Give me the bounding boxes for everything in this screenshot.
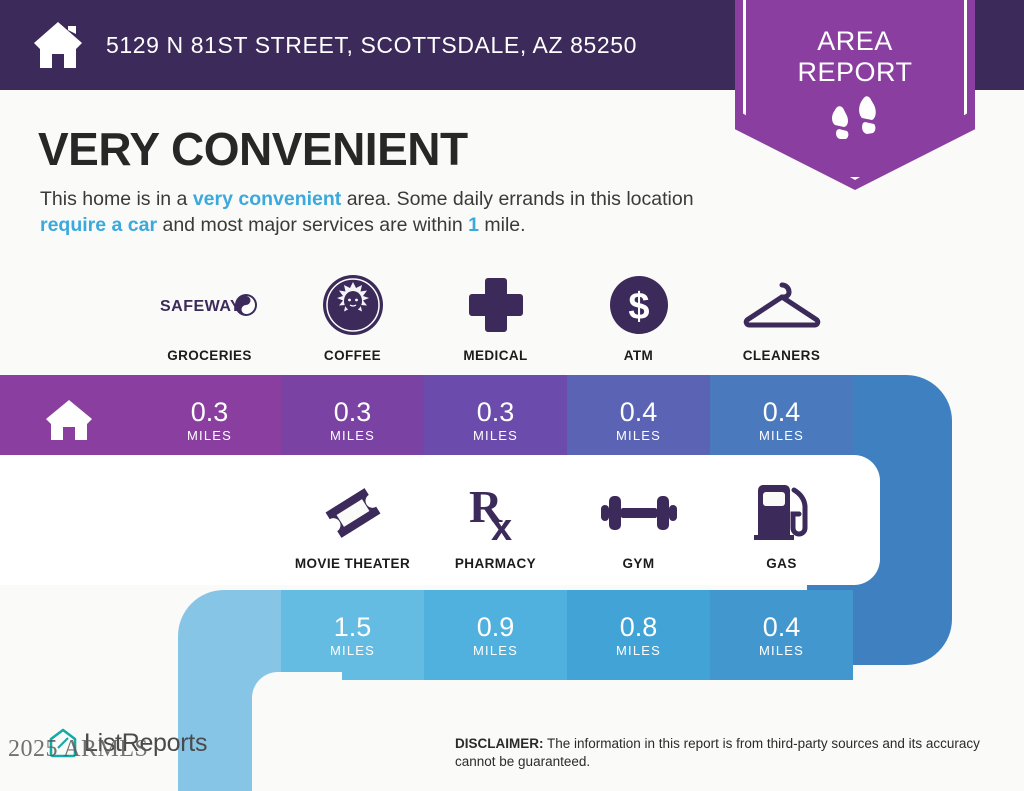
icon-label: COFFEE	[324, 348, 381, 363]
segment-value: 0.9	[477, 613, 515, 642]
icon-label: MEDICAL	[463, 348, 527, 363]
ribbon-inner-cutout	[252, 672, 342, 791]
segment-coffee: 0.3 MILES	[281, 375, 424, 465]
segment-unit: MILES	[473, 428, 518, 443]
segment-value: 0.3	[191, 398, 229, 427]
rx-icon: R x	[467, 480, 525, 546]
icon-label: CLEANERS	[743, 348, 820, 363]
icon-cell-coffee: COFFEE	[281, 272, 424, 363]
icon-label: GAS	[766, 556, 796, 571]
segment-home	[0, 375, 138, 465]
segment-value: 0.3	[334, 398, 372, 427]
svg-text:$: $	[628, 286, 649, 328]
medical-cross-icon	[467, 272, 525, 338]
home-icon	[32, 20, 84, 70]
subtitle-highlight-1: very convenient	[193, 188, 341, 210]
segment-unit: MILES	[473, 643, 518, 658]
icon-label: GROCERIES	[167, 348, 252, 363]
ticket-icon	[322, 480, 384, 546]
icon-cell-groceries: SAFEWAY GROCERIES	[138, 272, 281, 363]
icon-cell-medical: MEDICAL	[424, 272, 567, 363]
segment-unit: MILES	[616, 643, 661, 658]
area-report-badge: AREA REPORT	[735, 0, 975, 190]
subtitle-part-1: This home is in a	[40, 188, 193, 210]
svg-text:SAFEWAY: SAFEWAY	[160, 298, 241, 315]
segment-value: 0.4	[763, 398, 801, 427]
segment-unit: MILES	[330, 643, 375, 658]
segment-unit: MILES	[759, 643, 804, 658]
icon-cell-movie-theater: MOVIE THEATER	[281, 480, 424, 571]
icon-label: GYM	[623, 556, 655, 571]
segment-pharmacy: 0.9 MILES	[424, 590, 567, 680]
badge-title: AREA REPORT	[735, 26, 975, 88]
segment-cleaners: 0.4 MILES	[710, 375, 853, 465]
badge-line-1: AREA	[735, 26, 975, 57]
segment-movie-theater: 1.5 MILES	[281, 590, 424, 680]
icon-cell-gym: GYM	[567, 480, 710, 571]
icon-label: PHARMACY	[455, 556, 536, 571]
icon-cell-pharmacy: R x PHARMACY	[424, 480, 567, 571]
starbucks-logo-icon	[322, 272, 384, 338]
segment-gas: 0.4 MILES	[710, 590, 853, 680]
segment-value: 1.5	[334, 613, 372, 642]
segment-unit: MILES	[616, 428, 661, 443]
icon-cell-atm: $ ATM	[567, 272, 710, 363]
page-subtitle: This home is in a very convenient area. …	[40, 186, 740, 238]
area-report-page: 5129 N 81ST STREET, SCOTTSDALE, AZ 85250…	[0, 0, 1024, 791]
subtitle-highlight-3: 1	[468, 214, 479, 236]
subtitle-highlight-2: require a car	[40, 214, 157, 236]
dollar-circle-icon: $	[610, 272, 668, 338]
segment-value: 0.4	[620, 398, 658, 427]
icon-cell-gas: GAS	[710, 480, 853, 571]
segment-value: 0.3	[477, 398, 515, 427]
segment-atm: 0.4 MILES	[567, 375, 710, 465]
svg-text:x: x	[491, 507, 512, 544]
hanger-icon	[740, 272, 824, 338]
segment-gym: 0.8 MILES	[567, 590, 710, 680]
segment-unit: MILES	[759, 428, 804, 443]
gas-pump-icon	[750, 480, 814, 546]
icon-label: MOVIE THEATER	[295, 556, 410, 571]
mls-watermark: 2025 ARMLS	[8, 736, 148, 763]
dumbbell-icon	[600, 480, 678, 546]
footprints-icon	[827, 96, 883, 148]
icon-row-secondary: MOVIE THEATER R x PHARMACY	[281, 480, 853, 571]
disclaimer: DISCLAIMER: The information in this repo…	[455, 735, 995, 771]
segment-unit: MILES	[330, 428, 375, 443]
header-address: 5129 N 81ST STREET, SCOTTSDALE, AZ 85250	[106, 32, 637, 59]
segment-value: 0.8	[620, 613, 658, 642]
home-icon	[44, 398, 94, 442]
segment-groceries: 0.3 MILES	[138, 375, 281, 465]
badge-line-2: REPORT	[735, 57, 975, 88]
subtitle-part-2: area. Some daily errands in this locatio…	[341, 188, 693, 210]
subtitle-part-3: and most major services are within	[157, 214, 468, 236]
segment-unit: MILES	[187, 428, 232, 443]
safeway-logo-icon: SAFEWAY	[160, 272, 260, 338]
icon-cell-cleaners: CLEANERS	[710, 272, 853, 363]
subtitle-part-4: mile.	[479, 214, 526, 236]
disclaimer-label: DISCLAIMER:	[455, 736, 544, 751]
icon-row-primary: SAFEWAY GROCERIES CO	[138, 272, 853, 363]
page-title: VERY CONVENIENT	[38, 122, 468, 176]
segment-medical: 0.3 MILES	[424, 375, 567, 465]
icon-label: ATM	[624, 348, 653, 363]
segment-value: 0.4	[763, 613, 801, 642]
